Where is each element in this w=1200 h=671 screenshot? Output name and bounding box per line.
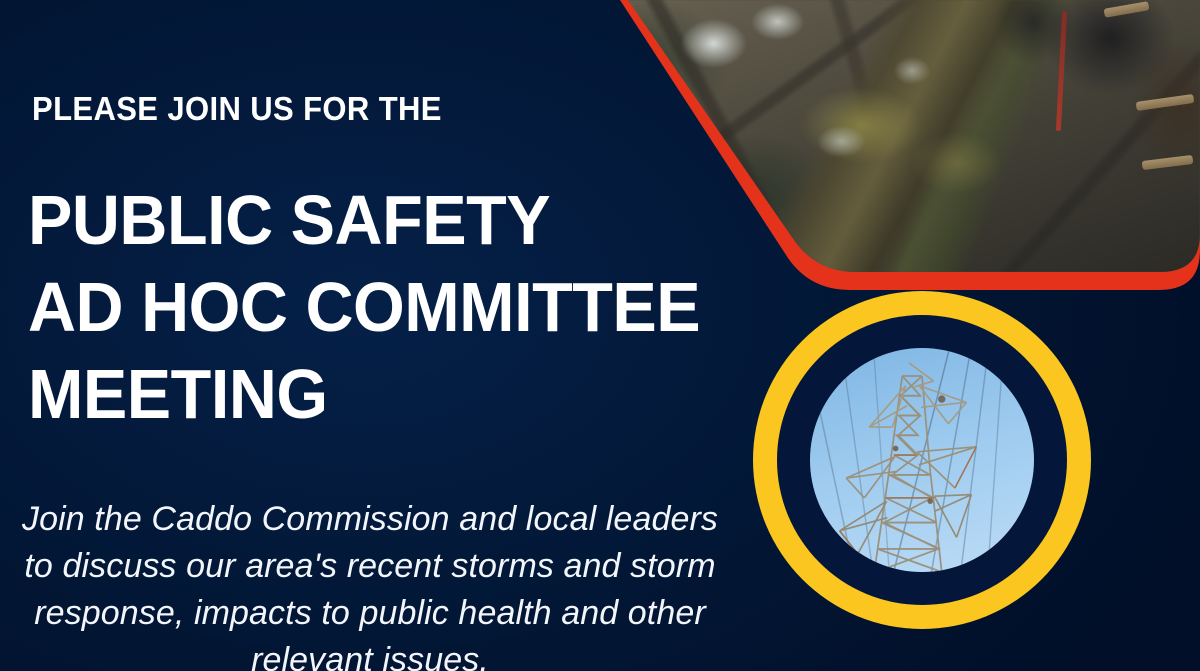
transmission-tower-icon [810, 348, 1034, 572]
circle-badge-inner-gap [777, 315, 1067, 605]
flyer-title: PUBLIC SAFETY AD HOC COMMITTEE MEETING [28, 177, 712, 438]
title-line-1: PUBLIC SAFETY [28, 177, 712, 264]
electric-transmission-tower-photo [810, 348, 1034, 572]
title-line-2: AD HOC COMMITTEE [28, 264, 712, 351]
circle-badge-yellow-ring [753, 291, 1091, 629]
flyer-text-content: PLEASE JOIN US FOR THE PUBLIC SAFETY AD … [0, 0, 760, 671]
flyer-description: Join the Caddo Commission and local lead… [14, 496, 726, 671]
flyer-eyebrow: PLEASE JOIN US FOR THE [32, 90, 442, 128]
title-line-3: MEETING [28, 351, 712, 438]
event-flyer: PLEASE JOIN US FOR THE PUBLIC SAFETY AD … [0, 0, 1200, 671]
